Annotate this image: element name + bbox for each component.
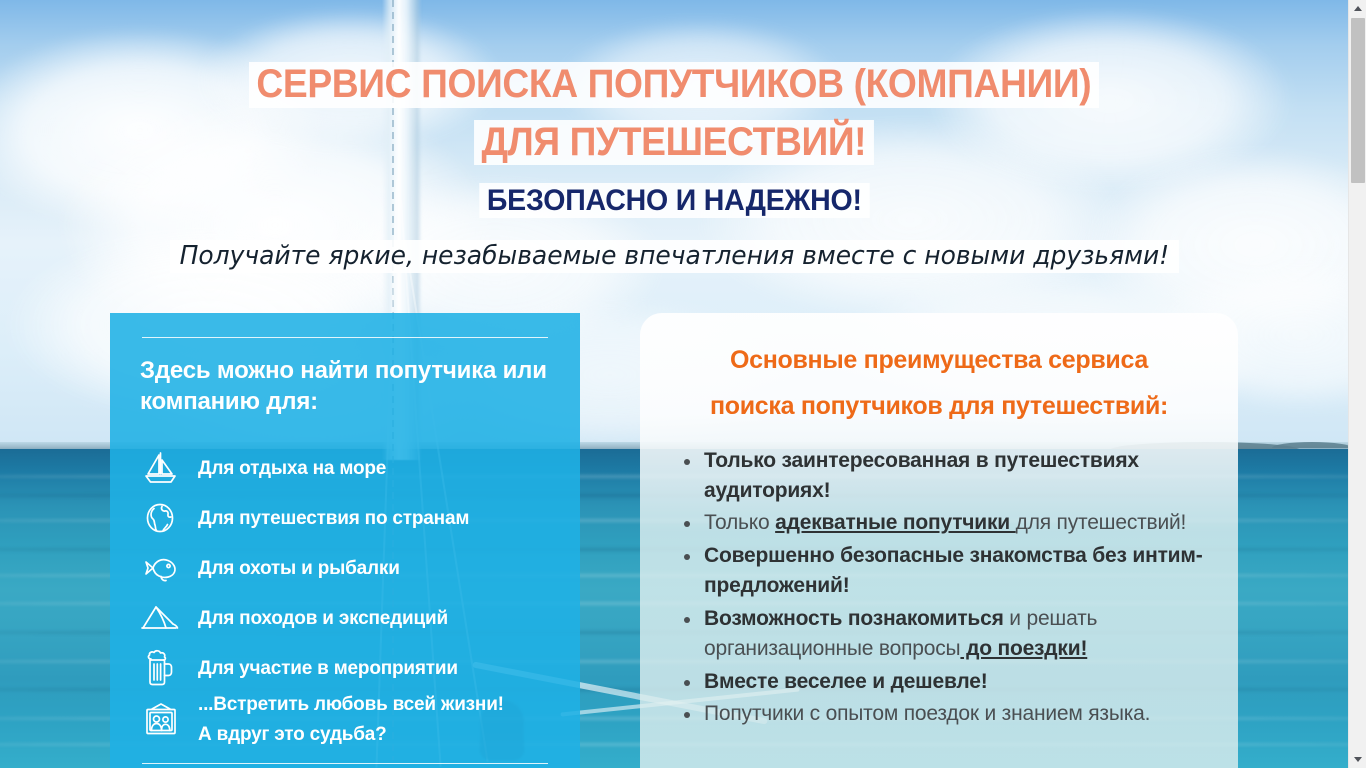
list-item-tent[interactable]: Для походов и экспедиций	[140, 593, 550, 643]
scrollbar-thumb[interactable]	[1351, 18, 1365, 183]
hero-subtitle-text: Получайте яркие, незабываемые впечатлени…	[170, 240, 1179, 273]
couple-photo-icon	[140, 699, 182, 741]
list-item-label-main: ...Встретить любовь всей жизни!	[198, 694, 504, 715]
hero-title-line-2: ДЛЯ ПУТЕШЕСТВИЙ!	[0, 120, 1348, 166]
scroll-down-arrow-button[interactable]	[1349, 751, 1366, 768]
hero-subtitle: Получайте яркие, незабываемые впечатлени…	[0, 240, 1348, 273]
list-item: Совершенно безопасные знакомства без инт…	[684, 541, 1212, 602]
chevron-down-icon	[1354, 757, 1362, 762]
list-item-label: ...Встретить любовь всей жизни! А вдруг …	[198, 693, 504, 747]
list-item-sailboat[interactable]: Для отдыха на море	[140, 443, 550, 493]
hero-title-line-1-text: СЕРВИС ПОИСКА ПОПУТЧИКОВ (КОМПАНИИ)	[249, 62, 1099, 108]
list-item-label: Для походов и экспедиций	[198, 607, 448, 631]
list-item: Попутчики с опытом поездок и знанием язы…	[684, 699, 1212, 729]
list-item-label: Для путешествия по странам	[198, 507, 469, 531]
distant-island	[1272, 442, 1348, 448]
fish-icon	[140, 547, 182, 589]
advantages-heading-line-2: поиска попутчиков для путешествий:	[710, 392, 1168, 420]
list-item: Только адекватные попутчики для путешест…	[684, 508, 1212, 538]
tent-icon	[140, 597, 182, 639]
find-companion-panel: Здесь можно найти попутчика или компанию…	[110, 313, 580, 768]
advantages-panel: Основные преимущества сервиса поиска поп…	[640, 313, 1238, 768]
chevron-up-icon	[1354, 6, 1362, 11]
advantages-heading-line-1: Основные преимущества сервиса	[730, 346, 1148, 374]
hero-title-line-1: СЕРВИС ПОИСКА ПОПУТЧИКОВ (КОМПАНИИ)	[0, 62, 1348, 108]
travel-purpose-list: Для отдыха на море Для путешествия по ст…	[140, 443, 550, 747]
list-item: Только заинтересованная в путешествиях а…	[684, 446, 1212, 507]
sailboat-icon	[140, 447, 182, 489]
list-item-globe[interactable]: Для путешествия по странам	[140, 493, 550, 543]
list-item-label: Для участие в мероприятии	[198, 657, 458, 681]
hero-safety-line: БЕЗОПАСНО И НАДЕЖНО!	[0, 183, 1348, 218]
hero-heading-block: СЕРВИС ПОИСКА ПОПУТЧИКОВ (КОМПАНИИ) ДЛЯ …	[0, 0, 1348, 273]
list-item-fish[interactable]: Для охоты и рыбалки	[140, 543, 550, 593]
advantages-heading: Основные преимущества сервиса поиска поп…	[666, 337, 1212, 430]
hero-title-line-2-text: ДЛЯ ПУТЕШЕСТВИЙ!	[474, 120, 874, 166]
list-item-label: Для охоты и рыбалки	[198, 557, 400, 581]
find-companion-heading: Здесь можно найти попутчика или компанию…	[140, 356, 550, 417]
advantages-list: Только заинтересованная в путешествиях а…	[666, 446, 1212, 730]
list-item-beer-mug[interactable]: Для участие в мероприятии	[140, 643, 550, 693]
list-item: Вместе веселее и дешевле!	[684, 667, 1212, 697]
globe-icon	[140, 497, 182, 539]
panel-top-divider	[142, 337, 548, 338]
page-scrollbar[interactable]	[1348, 0, 1366, 768]
list-item-couple-photo[interactable]: ...Встретить любовь всей жизни! А вдруг …	[140, 693, 550, 747]
beer-mug-icon	[140, 647, 182, 689]
panel-bottom-divider	[142, 763, 548, 764]
hero-safety-text: БЕЗОПАСНО И НАДЕЖНО!	[479, 183, 869, 218]
list-item-label-sub: А вдруг это судьба?	[198, 723, 504, 747]
scroll-up-arrow-button[interactable]	[1349, 0, 1366, 17]
page-root: СЕРВИС ПОИСКА ПОПУТЧИКОВ (КОМПАНИИ) ДЛЯ …	[0, 0, 1366, 768]
list-item: Возможность познакомиться и решать орган…	[684, 604, 1212, 665]
list-item-label: Для отдыха на море	[198, 457, 386, 481]
